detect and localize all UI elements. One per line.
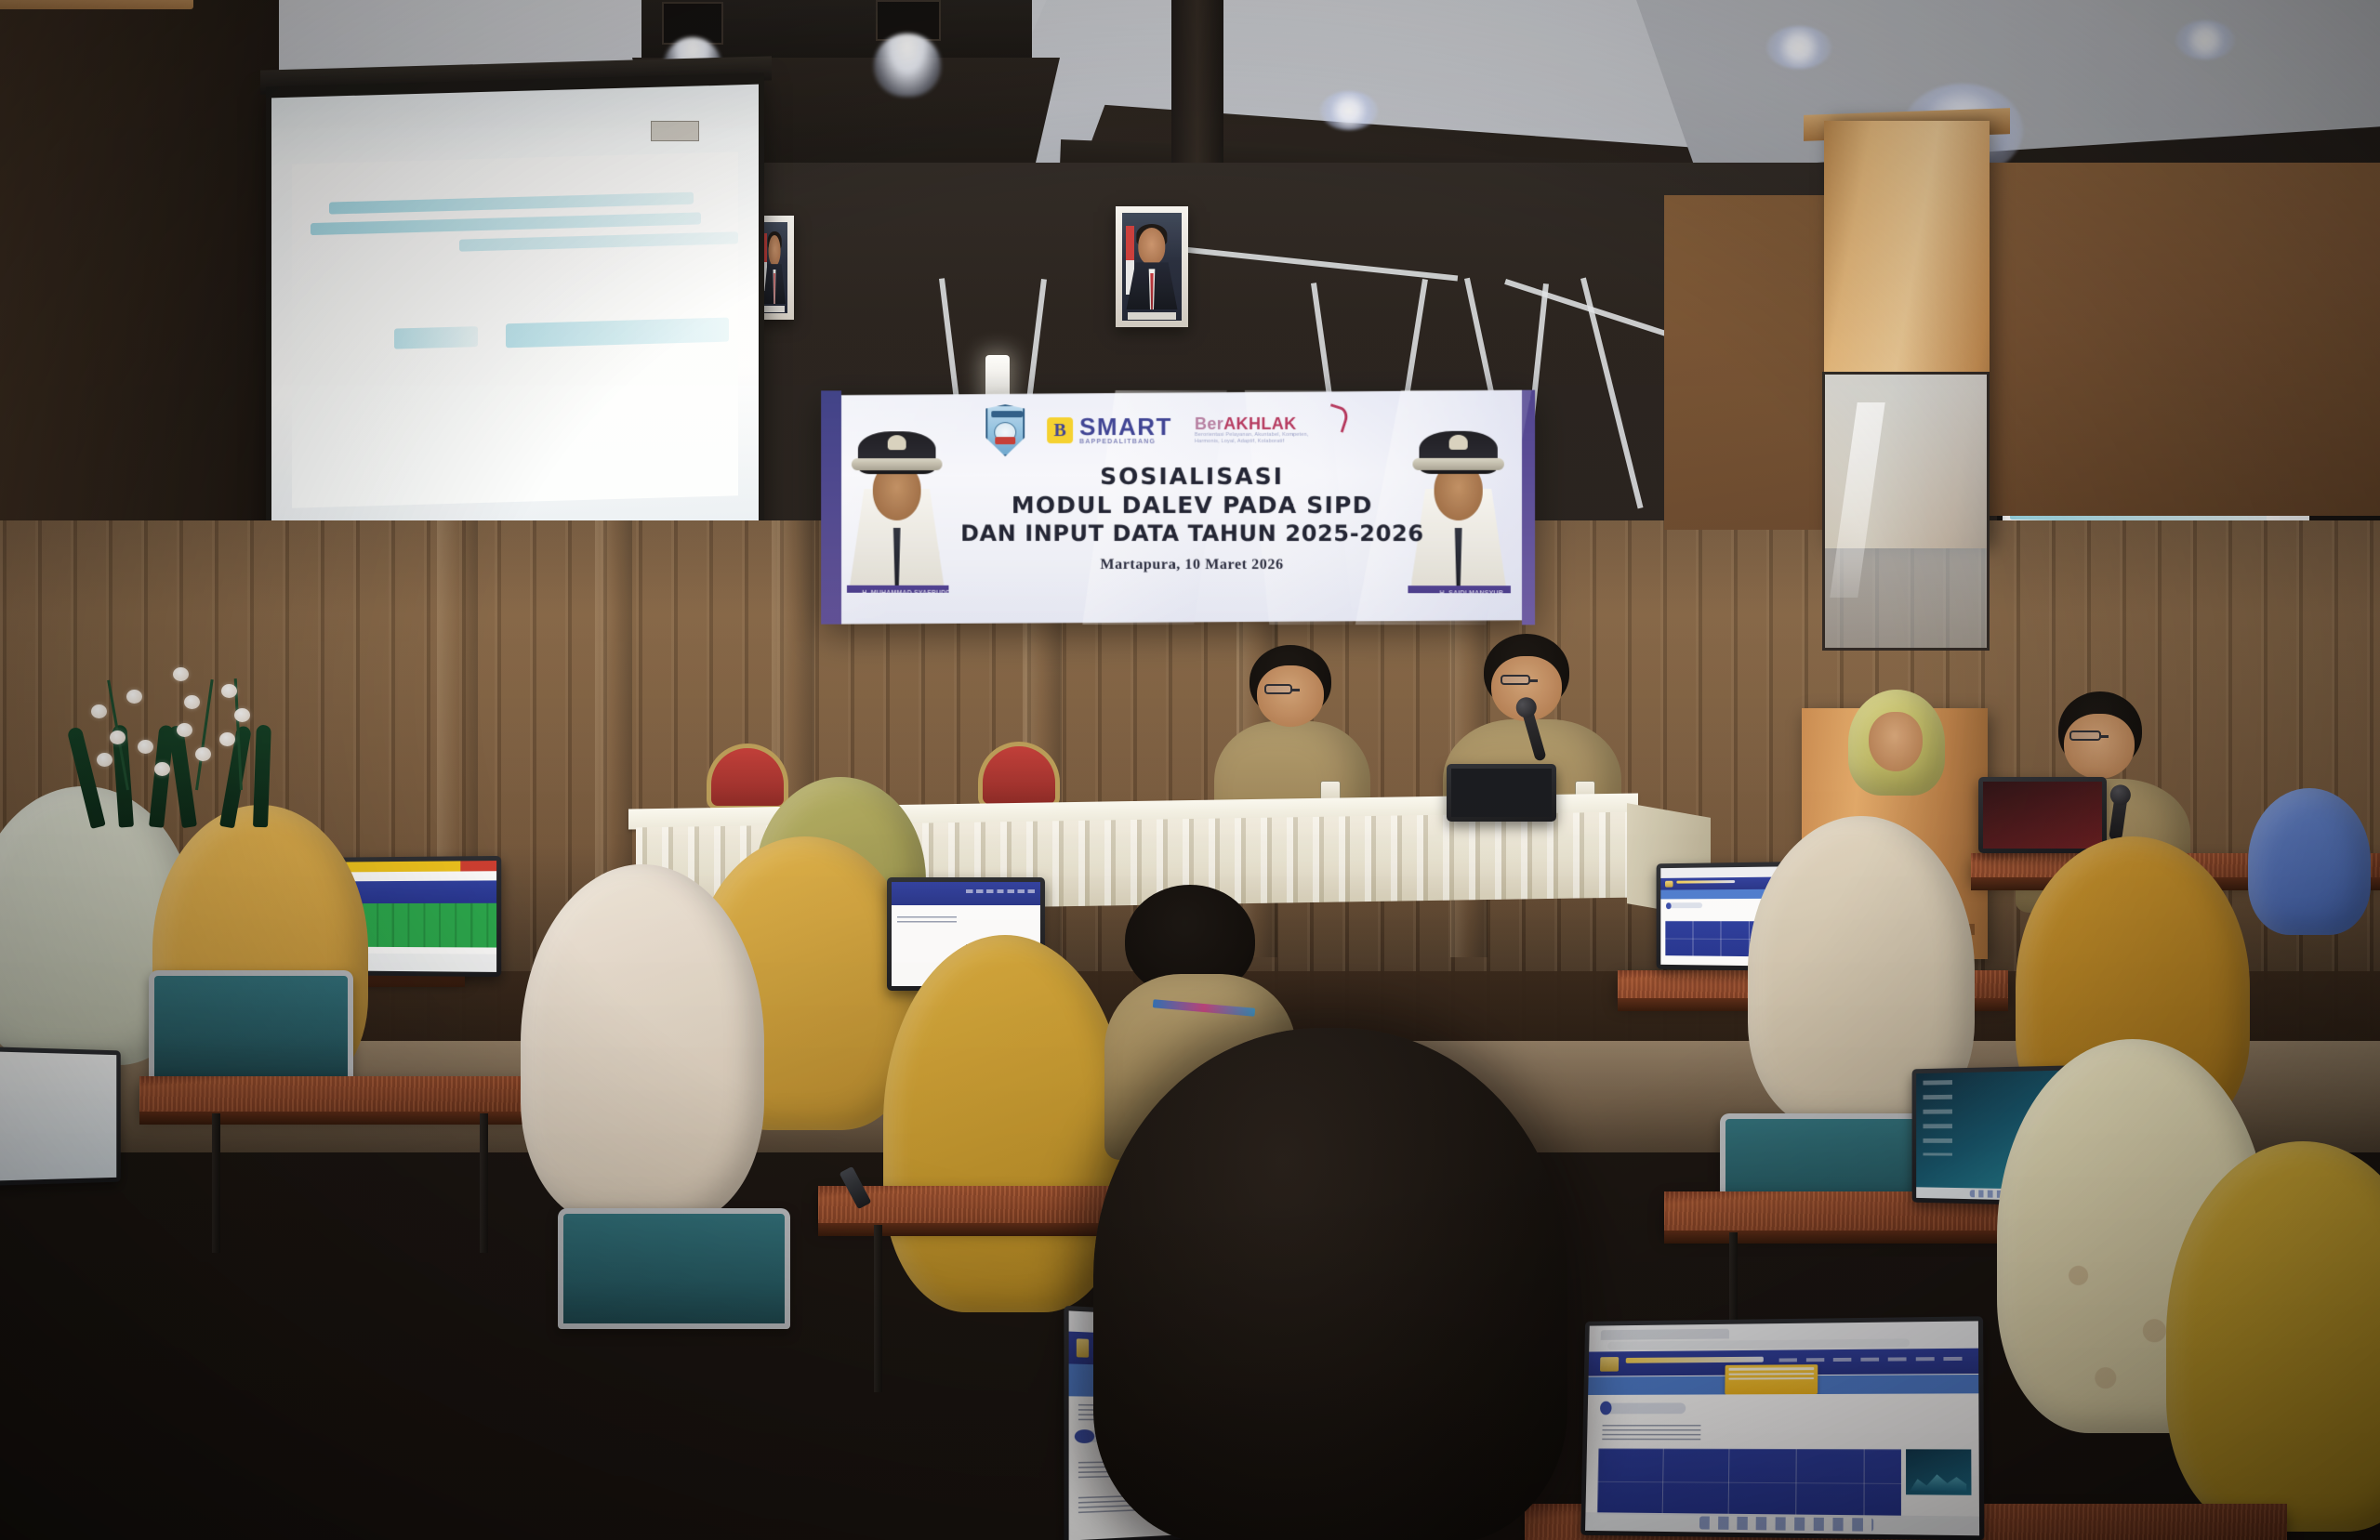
- banner-title-line1: SOSIALISASI: [959, 463, 1424, 491]
- lectern-top: [0, 0, 193, 9]
- participant-C3-cream: [521, 864, 772, 1236]
- glasses-icon: [2069, 731, 2101, 741]
- banner-title-line2: MODUL DALEV PADA SIPD: [959, 491, 1424, 520]
- right-wall-panel-a: [1664, 195, 1831, 530]
- glass-display-cabinet: [1822, 372, 1990, 651]
- projection-screen-left: [266, 73, 764, 589]
- glasses-icon: [1264, 684, 1292, 694]
- event-banner: H. MUHAMMAD SYAFRUDDIN BUPATI H. SAIDI M…: [821, 390, 1535, 625]
- recessed-light-3: [1766, 26, 1831, 69]
- banner-title-block: SOSIALISASI MODUL DALEV PADA SIPD DAN IN…: [959, 463, 1424, 573]
- conference-room-photo: H. MUHAMMAD SYAFRUDDIN BUPATI H. SAIDI M…: [0, 0, 2380, 1540]
- banner-logo-row: B SMART BAPPEDALITBANG BerAKHLAK Berorie…: [985, 401, 1376, 459]
- smart-logo: B SMART BAPPEDALITBANG: [1047, 415, 1172, 446]
- screen-pull-tab: [651, 121, 699, 141]
- berakhlak-prefix: Ber: [1195, 415, 1223, 433]
- sipd-video-thumbnail[interactable]: [1906, 1450, 1971, 1495]
- recessed-light-1: [1320, 91, 1378, 130]
- banner-nameplate-right: H. SAIDI MANSYUR WAKIL BUPATI: [1408, 586, 1510, 593]
- smart-sublabel: BAPPEDALITBANG: [1079, 438, 1172, 446]
- projected-slide-left: [292, 151, 738, 507]
- desk-row2-left: [139, 1076, 530, 1113]
- banner-title-line3: DAN INPUT DATA TAHUN 2025-2026: [959, 520, 1424, 548]
- banner-name-left: H. MUHAMMAD SYAFRUDDIN: [862, 589, 948, 593]
- sipd-data-table: [1597, 1449, 1902, 1518]
- foreground-head-silhouette: [1093, 1028, 1577, 1540]
- chair-L2: [149, 970, 353, 1082]
- glasses-icon: [1501, 675, 1530, 685]
- berakhlak-logo: BerAKHLAK Berorientasi Pelayanan, Akunta…: [1195, 415, 1334, 445]
- banner-date-line: Martapura, 10 Maret 2026: [959, 557, 1424, 573]
- sipd-breadcrumb-pill: [1603, 1402, 1686, 1414]
- banner-edge-left: [821, 390, 841, 624]
- downlight-glow-2: [874, 33, 941, 97]
- banner-portrait-bupati: H. MUHAMMAD SYAFRUDDIN BUPATI: [845, 420, 948, 593]
- regional-crest-icon: [985, 404, 1025, 456]
- orchid-arrangement: [37, 651, 335, 827]
- participant-R4-yellow: [2166, 1141, 2380, 1540]
- right-wall-panel-b: [1990, 163, 2380, 516]
- smart-b-mark-icon: B: [1047, 417, 1073, 443]
- berakhlak-sublabel: Berorientasi Pelayanan, Akuntabel, Kompe…: [1195, 432, 1334, 445]
- smart-wordmark: SMART: [1079, 415, 1172, 438]
- banner-nameplate-left: H. MUHAMMAD SYAFRUDDIN BUPATI: [847, 586, 949, 593]
- recessed-light-2: [2175, 20, 2235, 59]
- sipd-dropdown-menu[interactable]: [1725, 1364, 1818, 1394]
- berakhlak-main: AKHLAK: [1223, 415, 1296, 433]
- participant-far-right-blue: [2248, 770, 2378, 937]
- chair-C3: [558, 1208, 790, 1329]
- participant-behind-lectern: [1848, 690, 1950, 801]
- portrait-frame-right: [1116, 206, 1188, 327]
- banner-name-right: H. SAIDI MANSYUR: [1440, 589, 1503, 593]
